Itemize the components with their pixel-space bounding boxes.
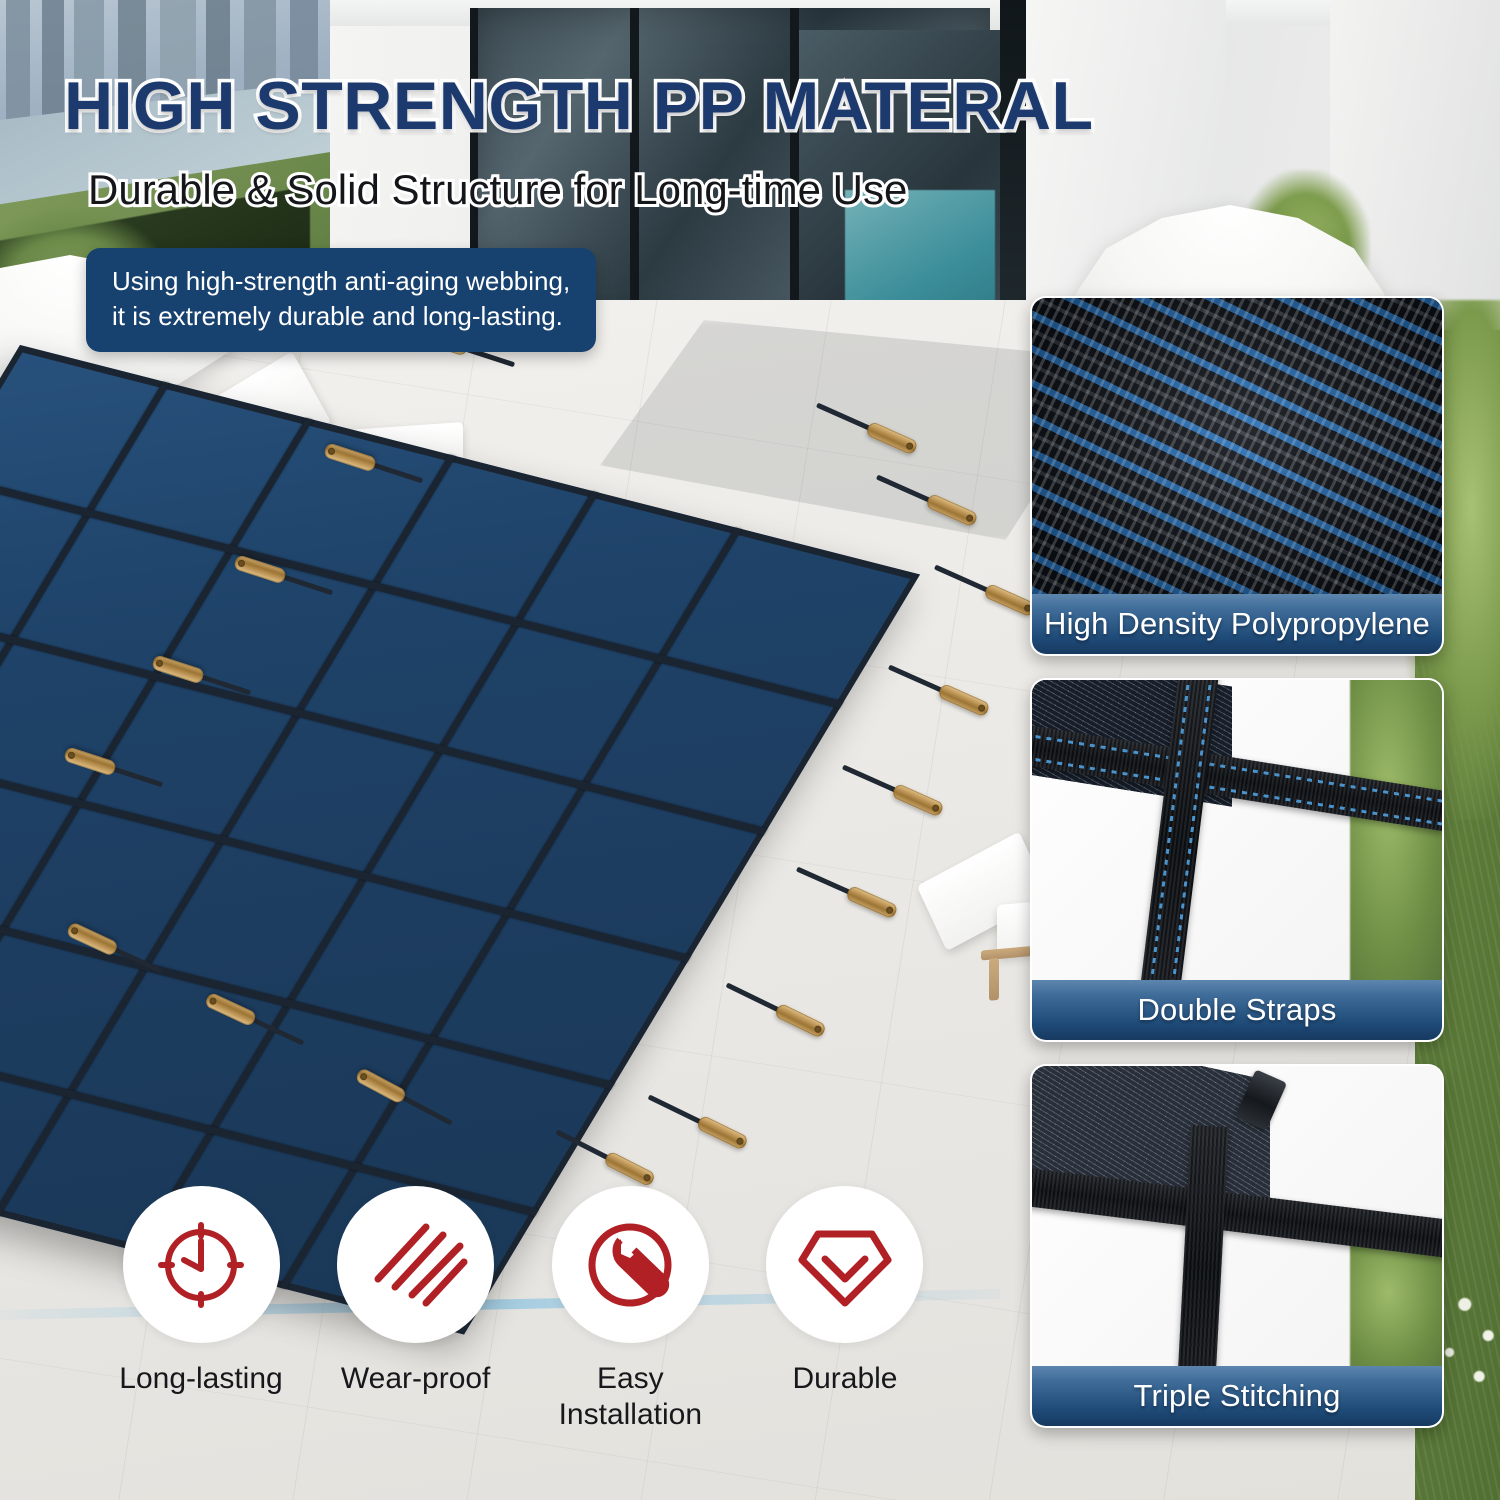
benefit-long-lasting: Long-lasting: [108, 1186, 294, 1396]
triple-stitching-image: [1032, 1066, 1442, 1366]
cover-strap-horizontal: [0, 599, 768, 836]
feature-card-polypropylene: High Density Polypropylene: [1030, 296, 1444, 656]
page-title: HIGH STRENGTH PP MATERAL: [64, 72, 1354, 140]
benefit-icon-wrapper: [123, 1186, 280, 1343]
wrench-circle-icon: [580, 1215, 680, 1315]
benefit-wear-proof: Wear-proof: [323, 1186, 509, 1396]
feature-card-triple-stitching: Triple Stitching: [1030, 1064, 1444, 1428]
scratch-lines-icon: [364, 1213, 468, 1317]
callout-line-1: Using high-strength anti-aging webbing,: [112, 264, 570, 299]
product-infographic: HIGH STRENGTH PP MATERAL Durable & Solid…: [0, 0, 1500, 1500]
benefit-label-line1: Easy: [597, 1362, 664, 1395]
benefit-label: Wear-proof: [341, 1361, 491, 1396]
benefit-icon-wrapper: [337, 1186, 494, 1343]
callout-line-2: it is extremely durable and long-lasting…: [112, 299, 570, 334]
benefit-label-line2: Installation: [559, 1398, 702, 1431]
cover-strap-horizontal: [0, 980, 539, 1217]
benefit-label: Durable: [792, 1361, 897, 1396]
diamond-check-icon: [794, 1217, 896, 1313]
feature-card-double-straps: Double Straps: [1030, 678, 1444, 1042]
benefit-easy-installation: Easy Installation: [537, 1186, 723, 1432]
feature-card-caption: Double Straps: [1032, 980, 1442, 1040]
woven-mesh-image: [1032, 298, 1442, 594]
feature-card-caption: High Density Polypropylene: [1032, 594, 1442, 654]
clock-icon: [153, 1217, 249, 1313]
benefit-durable: Durable: [752, 1186, 938, 1396]
benefit-label: Easy Installation: [559, 1361, 702, 1432]
benefit-icon-wrapper: [552, 1186, 709, 1343]
double-straps-image: [1032, 680, 1442, 980]
page-subtitle: Durable & Solid Structure for Long-time …: [88, 168, 1338, 212]
benefit-label: Long-lasting: [119, 1361, 282, 1396]
feature-cards: High Density Polypropylene Double Straps: [1030, 296, 1444, 1450]
feature-card-caption: Triple Stitching: [1032, 1366, 1442, 1426]
callout-box: Using high-strength anti-aging webbing, …: [86, 248, 596, 352]
benefit-list: Long-lasting Wear-proof: [108, 1186, 938, 1432]
benefit-icon-wrapper: [766, 1186, 923, 1343]
